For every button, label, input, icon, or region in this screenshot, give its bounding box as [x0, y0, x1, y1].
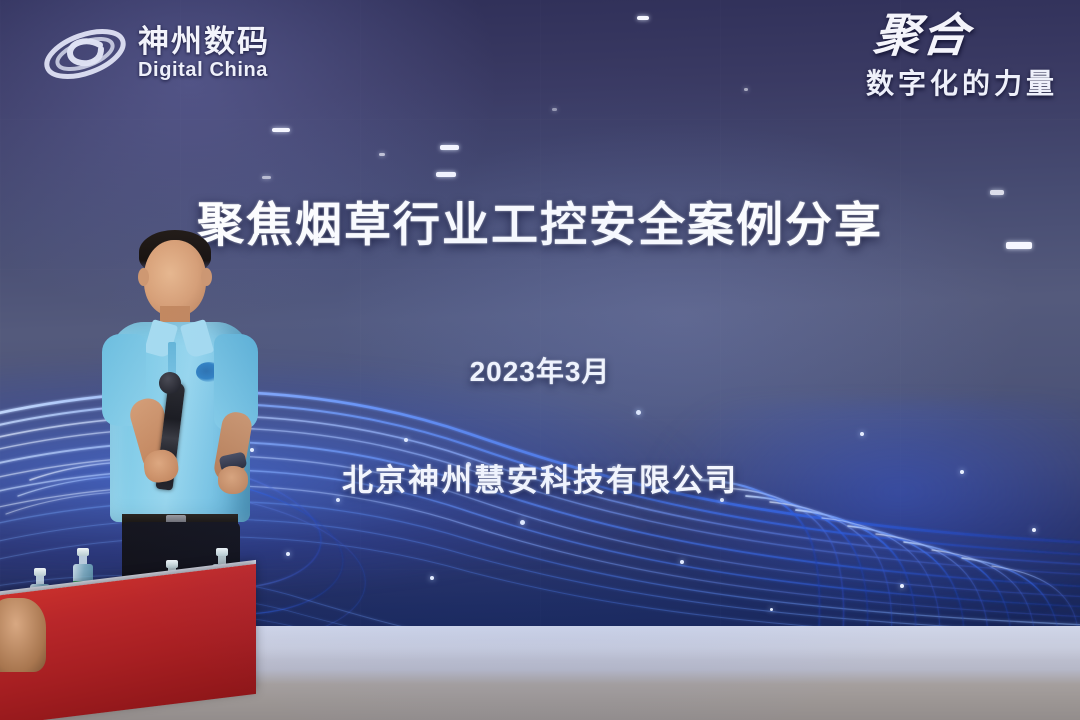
light-particle [404, 438, 408, 442]
light-particle [636, 410, 641, 415]
light-particle [440, 145, 459, 150]
light-particle [900, 584, 904, 588]
event-brush-text: 聚合 [806, 14, 973, 58]
light-particle [680, 560, 684, 564]
light-particle [430, 576, 434, 580]
conference-stage-photo: 神州数码 Digital China 聚合 数字化的力量 聚焦烟草行业工控安全案… [0, 0, 1080, 720]
swirl-spiral-icon [42, 21, 128, 87]
light-particle [637, 16, 649, 20]
digital-china-logo: 神州数码 Digital China [42, 16, 317, 92]
light-particle [1032, 528, 1036, 532]
light-particle [552, 108, 557, 111]
light-particle [770, 608, 773, 611]
light-particle [860, 432, 864, 436]
light-particle [272, 128, 290, 132]
light-particle [436, 172, 456, 177]
light-particle [520, 520, 525, 525]
light-particle [744, 88, 748, 91]
brand-name-en: Digital China [138, 59, 270, 82]
event-subtitle: 数字化的力量 [808, 62, 1058, 102]
light-particle [379, 153, 385, 156]
light-particle [286, 552, 290, 556]
presenter-head [144, 240, 206, 316]
event-logo: 聚合 数字化的力量 [808, 14, 1058, 114]
presenter-ear-right [201, 268, 212, 286]
seated-attendee [0, 598, 46, 672]
presenter-ear-left [138, 268, 149, 286]
light-particle [262, 176, 271, 179]
brand-name-cn: 神州数码 [138, 26, 270, 59]
presenter-hand-right [218, 466, 248, 494]
